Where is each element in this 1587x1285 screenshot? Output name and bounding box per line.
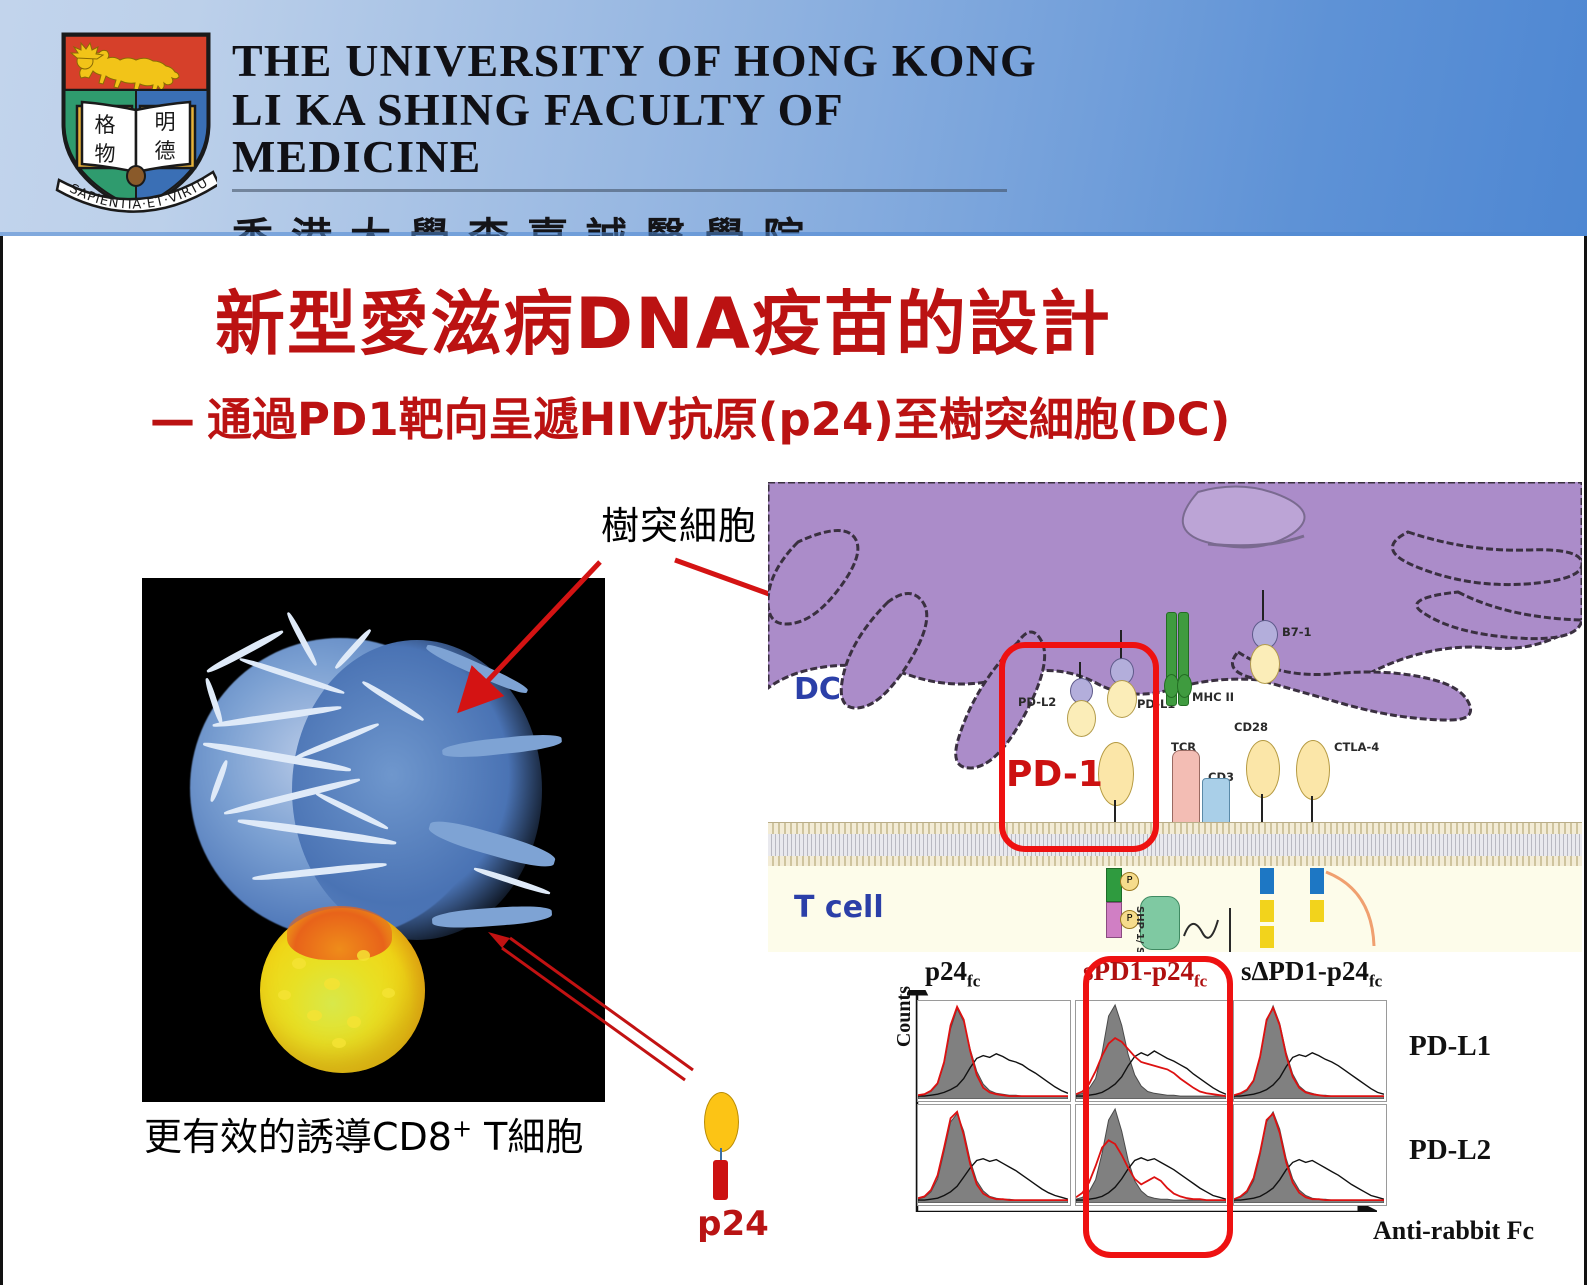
- histogram-traces: [918, 1105, 1068, 1203]
- membrane-lipid-tails: [768, 834, 1582, 856]
- inhibitory-signal-curve: [1324, 870, 1404, 950]
- cd28-receptor: [1246, 740, 1280, 798]
- flow-column-header-sPD1-p24fc: sPD1-p24fc: [1083, 956, 1207, 991]
- flow-x-axis-label: Anti-rabbit Fc: [1373, 1216, 1534, 1246]
- wordmark-divider: [232, 189, 1007, 192]
- histogram-traces: [1234, 1105, 1384, 1203]
- mhc-ii-domain: [1177, 674, 1192, 698]
- t-cell-contact-zone: [287, 906, 392, 960]
- cd28-cyto-tail-yellow: [1260, 926, 1274, 948]
- trace-gray-filled: [918, 1114, 1068, 1203]
- shp-phosphatase: [1140, 896, 1180, 950]
- trace-gray-filled: [1234, 1006, 1384, 1099]
- histogram-panel-p24fc-PD-L1: [917, 1000, 1071, 1102]
- label-ctla-4: CTLA-4: [1334, 740, 1379, 754]
- arrow-to-micrograph: [464, 562, 600, 706]
- subtitle-dash: —: [150, 393, 207, 446]
- crest-book-char-3: 物: [95, 142, 116, 166]
- university-name-en-line1: THE UNIVERSITY OF HONG KONG: [232, 38, 1048, 84]
- p24-antigen-block-icon: [713, 1160, 728, 1200]
- slide-subtitle: —通過PD1靶向呈遞HIV抗原(p24)至樹突細胞(DC): [150, 383, 1530, 448]
- histogram-panel-p24fc-PD-L2: [917, 1104, 1071, 1206]
- pd1-receptor-oval-icon: [704, 1092, 739, 1152]
- t-cell-microvillus: [278, 990, 291, 1000]
- ctla4-cyto-tail-blue: [1310, 868, 1324, 894]
- p24-arrow-edge-b: [510, 938, 693, 1070]
- phosphate-group-icon: P: [1120, 872, 1139, 891]
- t-cell-microvillus: [347, 1016, 361, 1028]
- t-cell-plasma-membrane: [768, 822, 1582, 868]
- t-cell-microvillus: [292, 958, 306, 969]
- histogram-panel-sDPD1-p24fc-PD-L1: [1233, 1000, 1387, 1102]
- p24-arrow-head: [488, 932, 510, 948]
- dendritic-cell-annotation-label: 樹突細胞: [601, 495, 757, 550]
- dc-compartment-label: DC: [794, 672, 841, 707]
- university-header-banner: 格 明 物 德 SAPIENTIA·ET·VIRTUS THE UNIVERSI…: [0, 0, 1587, 236]
- p24-arrow-edge-a: [502, 948, 685, 1080]
- label-shp1-shp2: SHP-1/ SHP2: [1134, 906, 1145, 952]
- p24-legend-label: p24: [688, 1204, 778, 1244]
- itim-motif-green: [1106, 868, 1122, 902]
- trace-gray-filled: [1076, 1005, 1226, 1099]
- membrane-outer-leaflet: [768, 823, 1582, 834]
- flow-row-label-PD-L2: PD-L2: [1409, 1134, 1491, 1167]
- label-b7-1: B7-1: [1282, 625, 1312, 639]
- histogram-panel-sDPD1-p24fc-PD-L2: [1233, 1104, 1387, 1206]
- label-mhc-ii: MHC II: [1192, 690, 1234, 704]
- crest-book-char-4: 德: [155, 139, 176, 163]
- t-cell-microvillus: [382, 988, 395, 998]
- ctla4-cyto-tail-yellow: [1310, 900, 1324, 922]
- tcell-compartment-label: T cell: [794, 890, 884, 925]
- crest-book-char-2: 明: [155, 110, 176, 134]
- flow-column-header-sDPD1-p24fc: sΔPD1-p24fc: [1241, 956, 1382, 991]
- label-cd28: CD28: [1234, 720, 1268, 734]
- caption-text-post: T細胞: [472, 1115, 583, 1159]
- caption-superscript: +: [452, 1114, 472, 1142]
- t-cell-microvillus: [307, 1010, 322, 1021]
- caption-text-pre: 更有效的誘導CD8: [144, 1115, 452, 1159]
- ctla-4-receptor: [1296, 740, 1330, 800]
- flow-column-header-p24fc: p24fc: [925, 956, 980, 991]
- cd28-cyto-tail-yellow: [1260, 900, 1274, 922]
- histogram-traces: [1076, 1105, 1226, 1203]
- faculty-name-en-line2: LI KA SHING FACULTY OF MEDICINE: [232, 87, 1048, 180]
- slide-title: 新型愛滋病DNA疫苗的設計: [215, 268, 1415, 369]
- dc-tcell-synapse-schematic: PD-L2 PD-L1 MHC II B7-1 TCR CD3 CD28 CTL…: [768, 482, 1582, 952]
- histogram-panel-sPD1-p24fc-PD-L1: [1075, 1000, 1229, 1102]
- histogram-panel-sPD1-p24fc-PD-L2: [1075, 1104, 1229, 1206]
- subtitle-text: 通過PD1靶向呈遞HIV抗原(p24)至樹突細胞(DC): [207, 393, 1230, 446]
- histogram-traces: [1076, 1001, 1226, 1099]
- p24-legend-icon: p24: [693, 1092, 753, 1232]
- micrograph-caption: 更有效的誘導CD8+ T細胞: [144, 1106, 583, 1161]
- p24-pointer-arrow: [480, 930, 720, 1110]
- flow-row-label-PD-L1: PD-L1: [1409, 1030, 1491, 1063]
- hku-crest-logo: 格 明 物 德 SAPIENTIA·ET·VIRTUS: [55, 28, 217, 220]
- university-wordmark: THE UNIVERSITY OF HONG KONG LI KA SHING …: [232, 38, 1032, 264]
- trace-gray-filled: [918, 1009, 1068, 1099]
- pd1-highlight-label: PD-1: [1006, 754, 1103, 795]
- slide-left-border: [0, 236, 3, 1285]
- t-cell-microvillus: [357, 950, 370, 961]
- histogram-traces: [918, 1001, 1068, 1099]
- t-cell-microvillus: [332, 1038, 346, 1048]
- b7-1-body-domain: [1250, 644, 1280, 684]
- signal-squiggle: [1182, 902, 1242, 952]
- crest-book-char-1: 格: [95, 113, 116, 137]
- cd28-cyto-tail-blue: [1260, 868, 1274, 894]
- pd1-highlight-box: [999, 642, 1159, 852]
- histogram-traces: [1234, 1001, 1384, 1099]
- flow-cytometry-figure: Counts Anti-rabbit Fc p24fcsPD1-p24fcsΔP…: [895, 948, 1585, 1258]
- t-cell-microvillus: [324, 978, 340, 990]
- trace-gray-filled: [1234, 1112, 1384, 1203]
- presentation-slide: 格 明 物 德 SAPIENTIA·ET·VIRTUS THE UNIVERSI…: [0, 0, 1587, 1285]
